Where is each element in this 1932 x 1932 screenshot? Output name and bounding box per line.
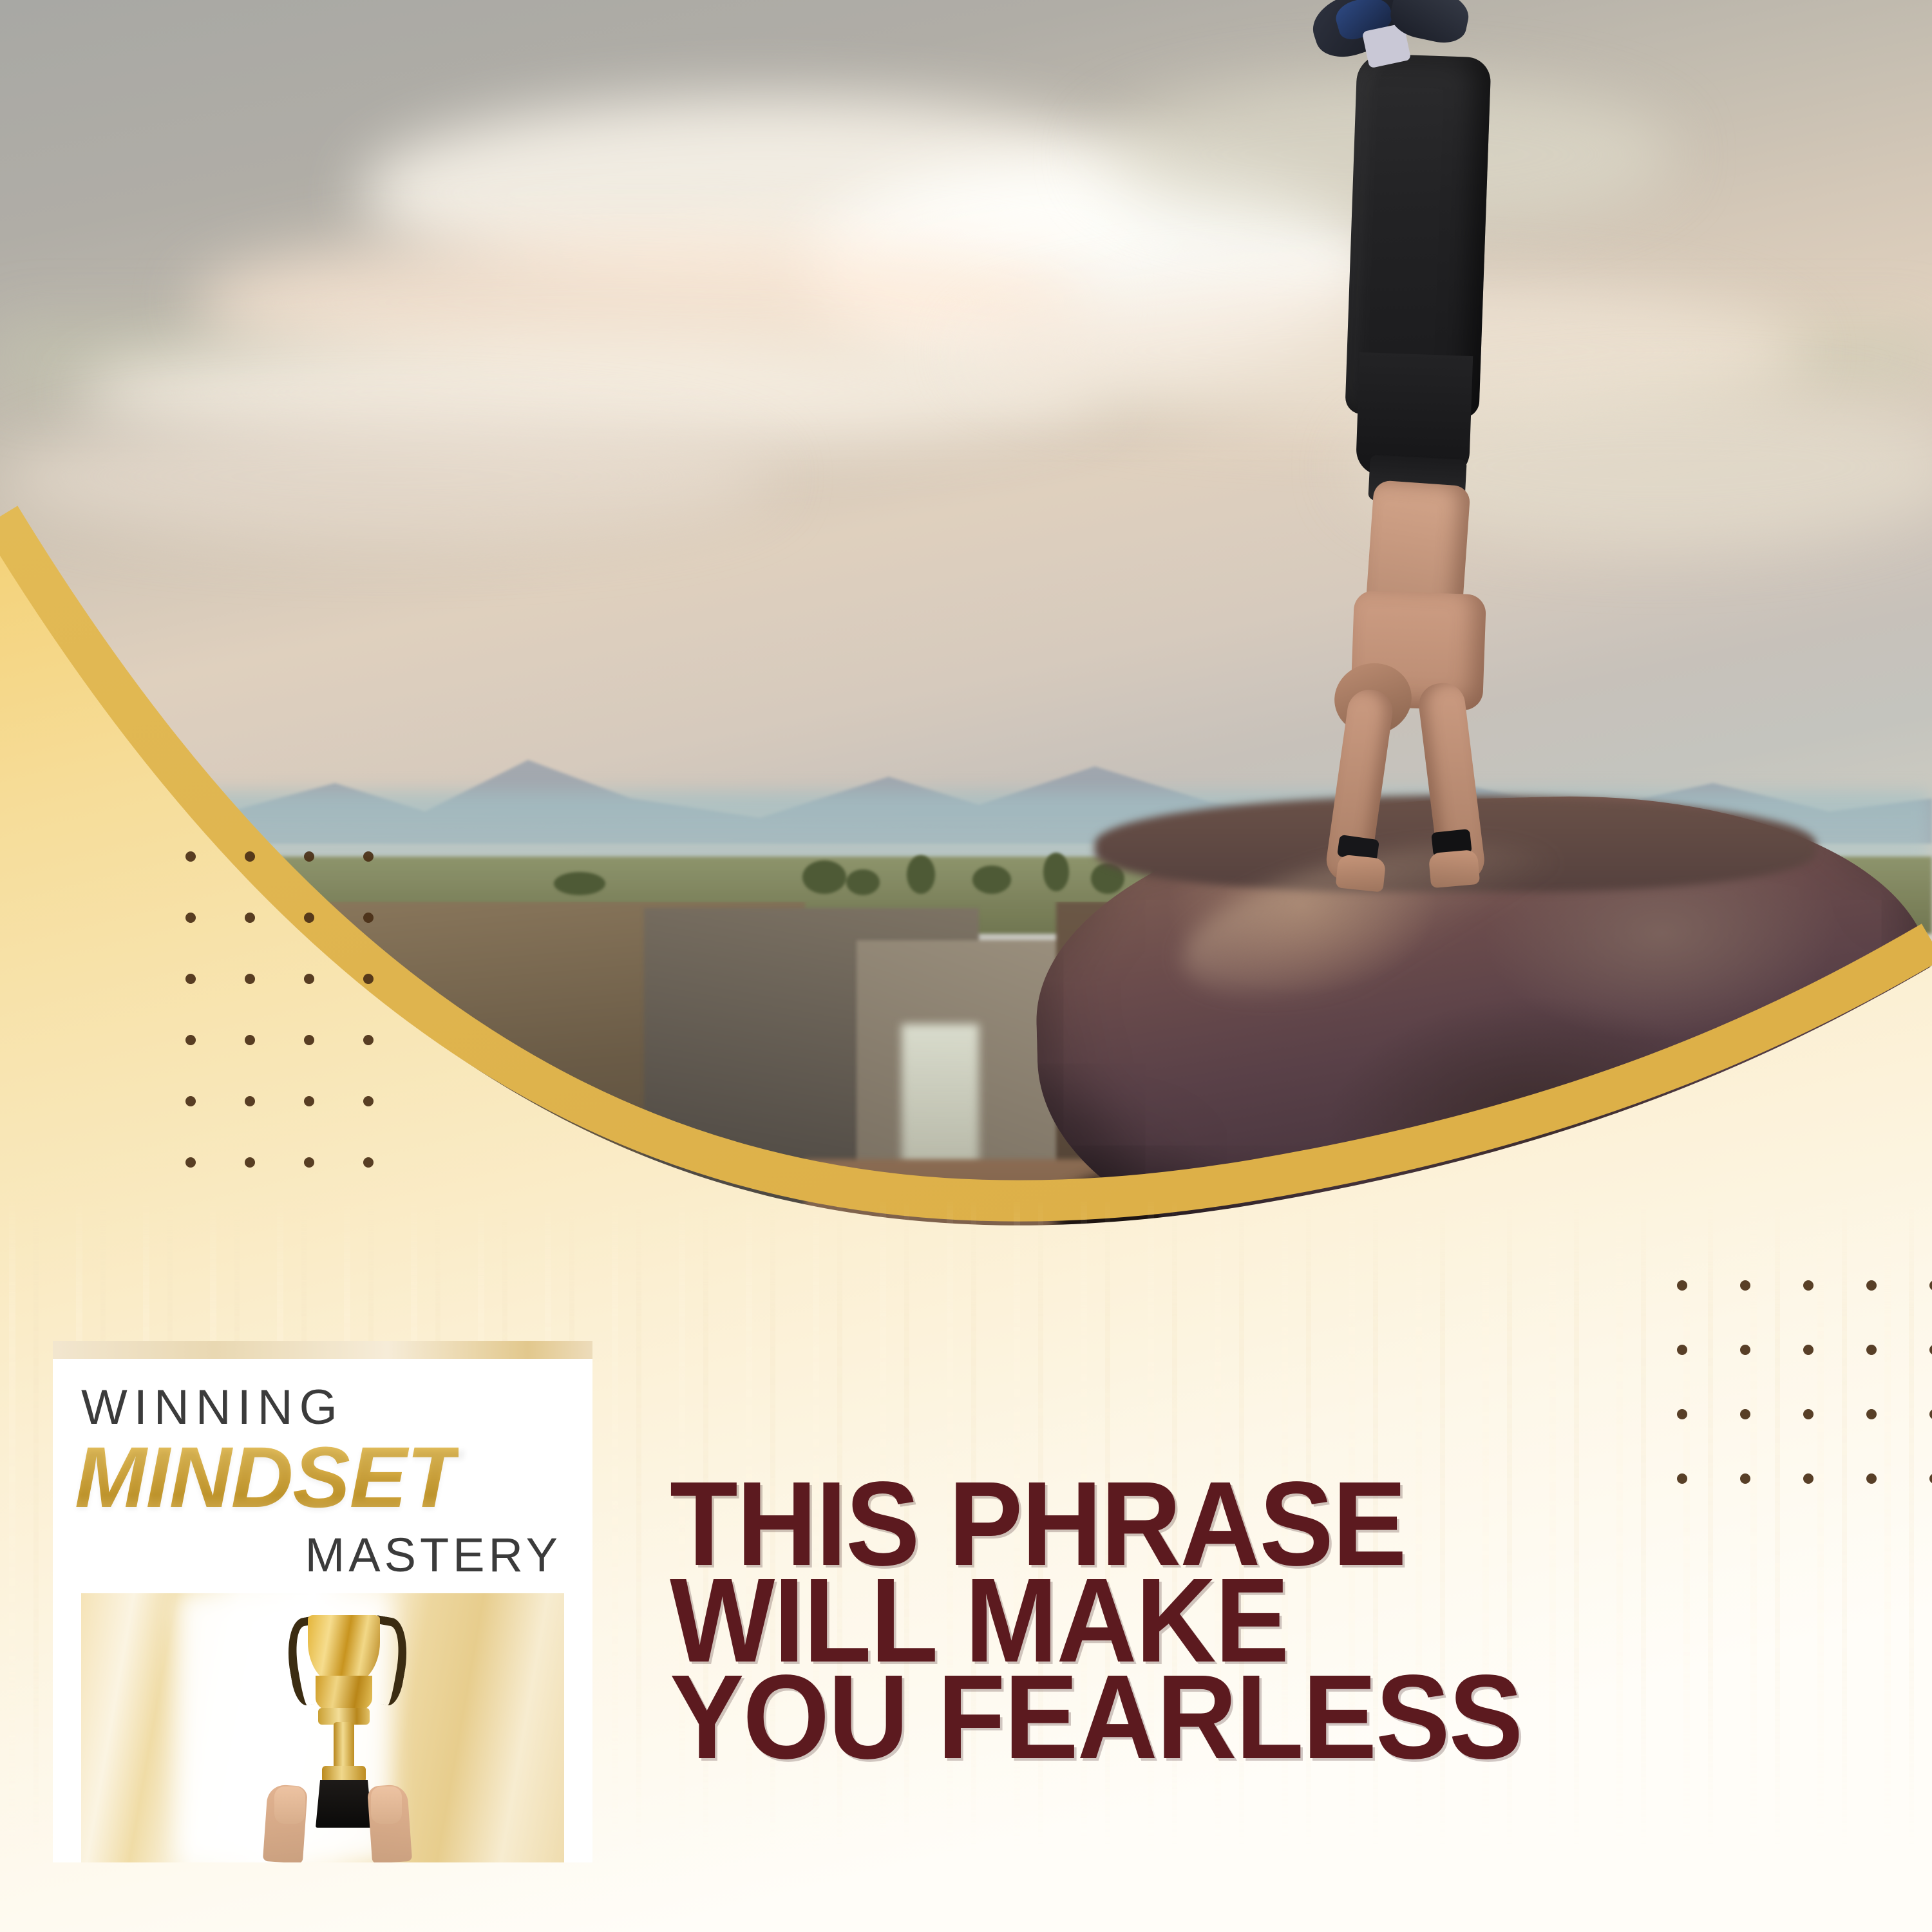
- cover-line-winning: WINNING: [81, 1383, 344, 1432]
- dot-pattern-left: [185, 851, 422, 1218]
- cover-line-mastery: MASTERY: [53, 1531, 562, 1579]
- cover-trophy-photo: [81, 1593, 564, 1862]
- promo-graphic: WINNING MINDSET MASTERY THIS PHRASE WILL…: [0, 0, 1932, 1932]
- cover-wordmark: WINNING MINDSET MASTERY: [53, 1359, 592, 1586]
- headline-line-3: YOU FEARLESS: [670, 1669, 1795, 1766]
- cover-top-band: [53, 1341, 592, 1359]
- cover-line-mindset: MINDSET: [75, 1435, 459, 1521]
- podcast-cover-card[interactable]: WINNING MINDSET MASTERY: [53, 1341, 592, 1862]
- headline-block: THIS PHRASE WILL MAKE YOU FEARLESS: [670, 1476, 1880, 1766]
- trophy-icon: [285, 1611, 401, 1804]
